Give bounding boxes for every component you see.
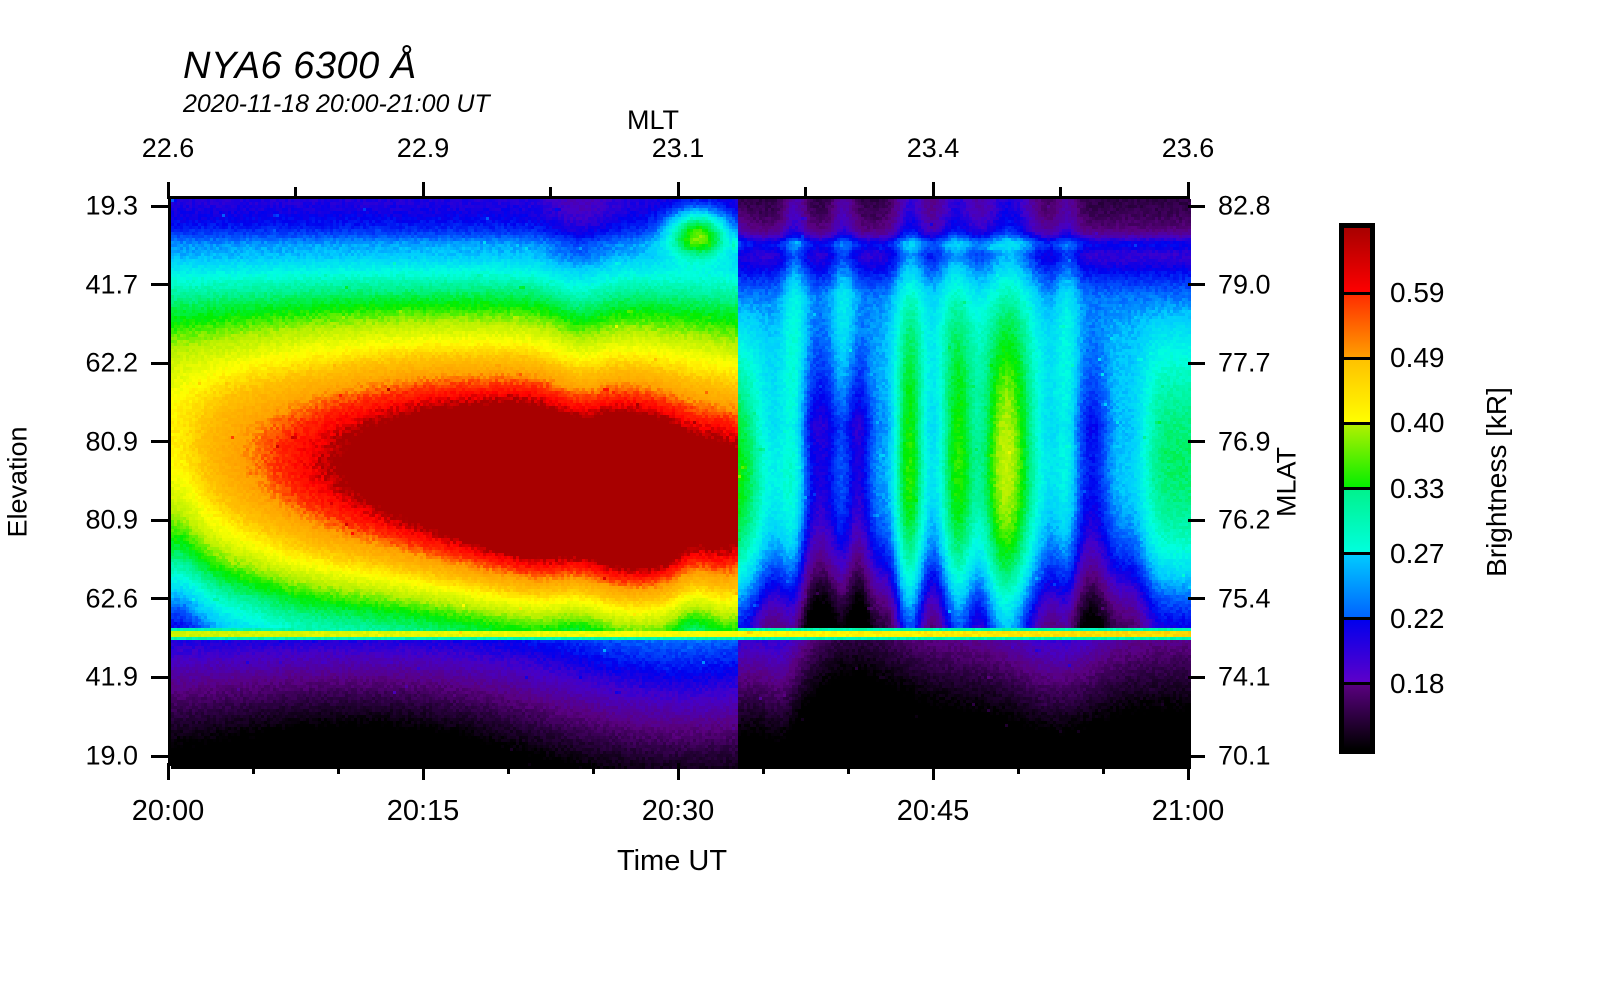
bottom-axis-minor-tick (592, 763, 595, 774)
left-axis-tick: 80.9 (85, 505, 138, 536)
right-axis-tick-mark (1188, 440, 1205, 443)
right-axis-tick: 77.7 (1218, 348, 1271, 379)
left-axis-tick-mark (151, 755, 168, 758)
top-axis-tick-mark (677, 182, 680, 199)
right-axis-tick-mark (1188, 283, 1205, 286)
colorbar-segment (1344, 684, 1370, 749)
top-axis-tick: 22.9 (397, 133, 450, 164)
right-axis-tick: 70.1 (1218, 741, 1271, 772)
left-axis-tick-mark (151, 676, 168, 679)
right-axis-tick-mark (1188, 519, 1205, 522)
top-axis-tick-mark (932, 182, 935, 199)
top-axis-tick: 22.6 (142, 133, 195, 164)
right-axis-tick: 79.0 (1218, 269, 1271, 300)
bottom-axis-minor-tick (1102, 763, 1105, 774)
right-axis-tick-mark (1188, 755, 1205, 758)
top-axis-tick: 23.1 (652, 133, 705, 164)
top-axis-label: MLT (627, 105, 679, 136)
top-axis-tick: 23.6 (1162, 133, 1215, 164)
bottom-axis-minor-tick (1017, 763, 1020, 774)
colorbar-divider (1344, 552, 1370, 555)
colorbar-segment (1344, 228, 1370, 293)
bottom-axis-minor-tick (337, 763, 340, 774)
colorbar-divider (1344, 357, 1370, 360)
colorbar-divider (1344, 682, 1370, 685)
left-axis-tick: 41.9 (85, 662, 138, 693)
left-axis-tick: 19.0 (85, 741, 138, 772)
colorbar-tick: 0.18 (1390, 668, 1445, 700)
bottom-axis-tick: 21:00 (1152, 795, 1225, 828)
colorbar-segment (1344, 554, 1370, 619)
colorbar-segment (1344, 619, 1370, 684)
bottom-axis-tick-mark (1187, 763, 1190, 780)
top-axis-tick-mark (1187, 182, 1190, 199)
bottom-axis-minor-tick (762, 763, 765, 774)
bottom-axis-tick: 20:00 (132, 795, 205, 828)
colorbar-tick: 0.22 (1390, 603, 1445, 635)
top-axis-minor-tick (549, 187, 552, 199)
colorbar-divider (1344, 617, 1370, 620)
colorbar-segment (1344, 358, 1370, 423)
page-title: NYA6 6300 Å (183, 45, 417, 88)
top-axis-tick-mark (167, 182, 170, 199)
keogram-figure: NYA6 6300 Å 2020-11-18 20:00-21:00 UT ML… (0, 0, 1600, 1000)
left-axis-tick-mark (151, 440, 168, 443)
colorbar-tick: 0.33 (1390, 473, 1445, 505)
bottom-axis-label: Time UT (617, 845, 727, 878)
bottom-axis-minor-tick (507, 763, 510, 774)
bottom-axis-minor-tick (252, 763, 255, 774)
bottom-axis-tick-mark (677, 763, 680, 780)
right-axis-tick: 74.1 (1218, 662, 1271, 693)
left-axis-tick-mark (151, 362, 168, 365)
right-axis-tick-mark (1188, 205, 1205, 208)
right-axis-tick-mark (1188, 676, 1205, 679)
page-subtitle: 2020-11-18 20:00-21:00 UT (183, 90, 490, 119)
right-axis-tick: 76.2 (1218, 505, 1271, 536)
left-axis-tick-mark (151, 205, 168, 208)
left-axis-tick: 80.9 (85, 426, 138, 457)
right-axis-label: MLAT (1272, 447, 1303, 517)
colorbar-segment (1344, 293, 1370, 358)
bottom-axis-tick: 20:45 (897, 795, 970, 828)
bottom-axis-tick-mark (422, 763, 425, 780)
left-axis-tick-mark (151, 519, 168, 522)
colorbar-divider (1344, 292, 1370, 295)
colorbar-divider (1344, 422, 1370, 425)
top-axis-minor-tick (294, 187, 297, 199)
bottom-axis-tick: 20:30 (642, 795, 715, 828)
top-axis-tick-mark (422, 182, 425, 199)
colorbar-segment (1344, 489, 1370, 554)
colorbar-tick: 0.49 (1390, 342, 1445, 374)
left-axis-tick: 19.3 (85, 191, 138, 222)
colorbar-label: Brightness [kR] (1481, 387, 1513, 577)
right-axis-tick: 75.4 (1218, 583, 1271, 614)
left-axis-tick-mark (151, 597, 168, 600)
right-axis-tick: 76.9 (1218, 426, 1271, 457)
colorbar-segment (1344, 423, 1370, 488)
top-axis-tick: 23.4 (907, 133, 960, 164)
colorbar-divider (1344, 487, 1370, 490)
right-axis-tick: 82.8 (1218, 191, 1271, 222)
plot-area (168, 196, 1188, 766)
left-axis-tick: 41.7 (85, 269, 138, 300)
colorbar (1339, 223, 1375, 754)
right-axis-tick-mark (1188, 362, 1205, 365)
left-axis-label: Elevation (3, 426, 34, 537)
top-axis-minor-tick (1059, 187, 1062, 199)
bottom-axis-tick-mark (932, 763, 935, 780)
bottom-axis-tick: 20:15 (387, 795, 460, 828)
top-axis-minor-tick (804, 187, 807, 199)
keogram-image (171, 199, 1191, 769)
colorbar-tick: 0.59 (1390, 277, 1445, 309)
colorbar-tick: 0.40 (1390, 407, 1445, 439)
left-axis-tick: 62.6 (85, 583, 138, 614)
colorbar-tick: 0.27 (1390, 538, 1445, 570)
bottom-axis-tick-mark (167, 763, 170, 780)
bottom-axis-minor-tick (847, 763, 850, 774)
left-axis-tick-mark (151, 283, 168, 286)
left-axis-tick: 62.2 (85, 348, 138, 379)
right-axis-tick-mark (1188, 597, 1205, 600)
